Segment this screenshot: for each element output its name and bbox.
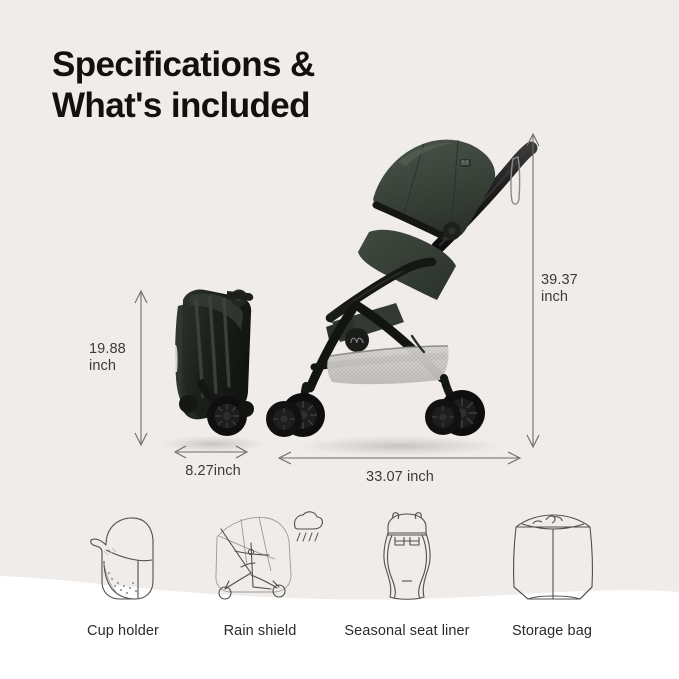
folded-wheel [207,396,247,436]
accessory-label: Seasonal seat liner [327,623,487,639]
rain-shield-icon [180,505,340,605]
rear-wheel-assembly [425,378,485,436]
unfolded-stroller-view [266,140,531,437]
seat-liner-icon [327,505,487,605]
accessories-row: Cup holder [0,505,679,655]
accessory-label: Cup holder [43,623,203,639]
cup-holder-icon [43,505,203,605]
folded-stroller-view [173,289,254,436]
product-photo-area [0,0,679,510]
accessory-item-cup-holder: Cup holder [43,505,203,639]
accessory-label: Rain shield [180,623,340,639]
specifications-infographic: Specifications & What's included [0,0,679,679]
arrow-height-unfolded [527,134,539,447]
dimension-label-height-unfolded: 39.37 inch [541,272,578,306]
storage-bag-icon [472,505,632,605]
arrow-height-folded [135,291,147,445]
dimension-label-height-folded: 19.88 inch [89,341,126,375]
front-wheel-assembly [266,386,325,437]
accessory-item-seat-liner: Seasonal seat liner [327,505,487,639]
accessory-item-rain-shield: Rain shield [180,505,340,639]
accessory-label: Storage bag [472,623,632,639]
dimension-label-length-unfolded: 33.07 inch [340,469,460,486]
dimension-label-width-folded: 8.27inch [173,463,253,480]
accessory-item-storage-bag: Storage bag [472,505,632,639]
